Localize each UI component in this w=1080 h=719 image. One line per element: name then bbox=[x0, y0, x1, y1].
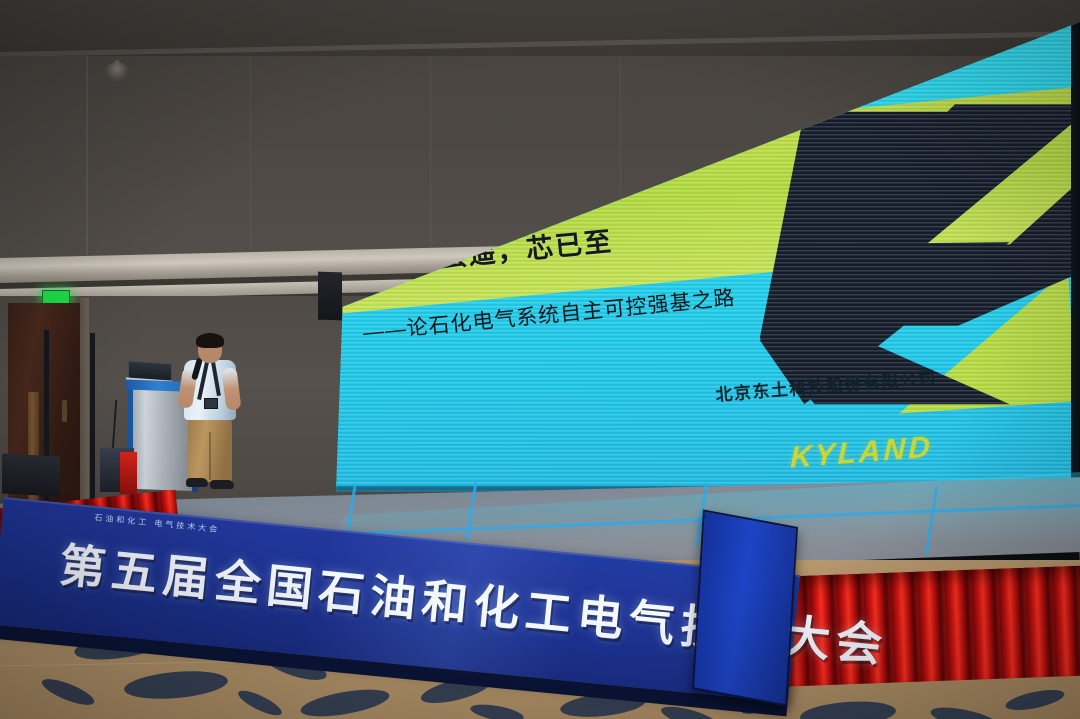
carpet-motif bbox=[929, 703, 1001, 719]
smoke-detector-icon bbox=[104, 62, 130, 82]
red-case bbox=[120, 452, 137, 494]
exit-sign-icon bbox=[42, 290, 70, 304]
carpet-motif bbox=[299, 684, 391, 719]
carpet-motif bbox=[469, 701, 525, 719]
door-frame bbox=[80, 298, 89, 510]
door-handle bbox=[62, 400, 67, 422]
carpet-motif bbox=[799, 699, 896, 719]
badge-icon bbox=[204, 398, 218, 409]
led-right-frame bbox=[1071, 22, 1080, 492]
ceiling-speaker-icon bbox=[318, 272, 342, 321]
presenter-shoe-left bbox=[186, 478, 208, 487]
carpet-motif bbox=[123, 668, 229, 703]
truss-pole bbox=[90, 333, 95, 501]
presenter bbox=[176, 336, 244, 494]
carpet-motif bbox=[1004, 686, 1066, 714]
carpet-motif bbox=[235, 686, 284, 719]
presenter-hair bbox=[196, 333, 224, 348]
stage-equipment bbox=[2, 453, 60, 496]
trouser-seam bbox=[209, 432, 211, 480]
secondary-blue-board bbox=[692, 509, 798, 706]
carpet-motif bbox=[39, 674, 97, 710]
conference-photo-scene: 路虽遥，芯已至 ——论石化电气系统自主可控强基之路 北京东土科技股份有限公司 K… bbox=[0, 0, 1080, 719]
presenter-shoe-right bbox=[210, 480, 234, 489]
